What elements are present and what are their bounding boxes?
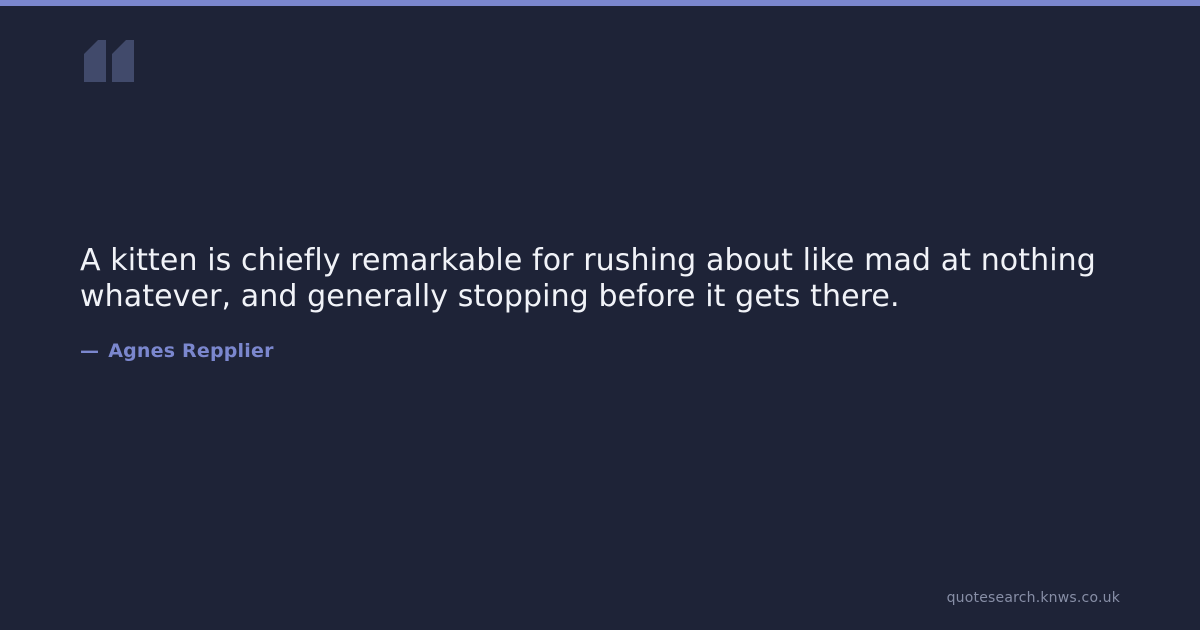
attribution-dash: — [80,340,99,362]
double-quote-icon [80,38,136,82]
attribution-author: Agnes Repplier [108,340,273,362]
quote-attribution: — Agnes Repplier [80,340,274,362]
site-watermark: quotesearch.knws.co.uk [947,590,1120,606]
quote-body: A kitten is chiefly remarkable for rushi… [80,243,1120,315]
quote-card: A kitten is chiefly remarkable for rushi… [0,0,1200,630]
quote-text: A kitten is chiefly remarkable for rushi… [80,243,1120,315]
top-accent-bar [0,0,1200,6]
